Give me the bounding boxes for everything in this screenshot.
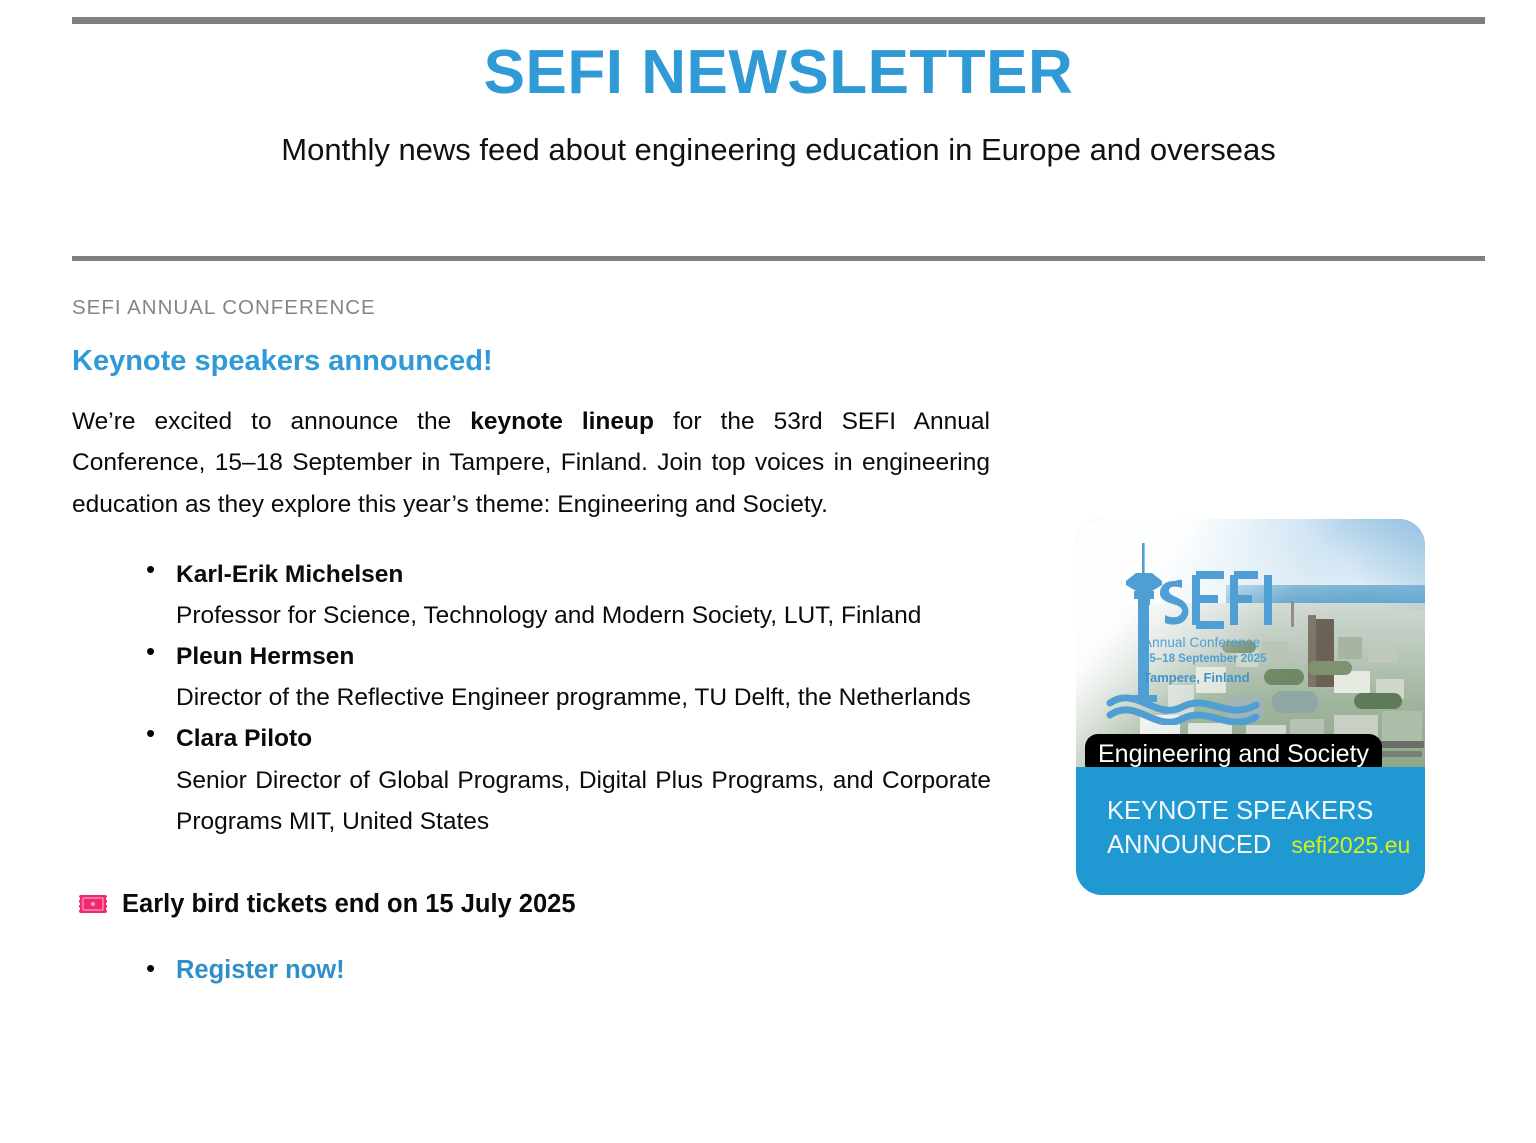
speaker-name: Pleun Hermsen xyxy=(176,636,990,677)
speaker-name: Clara Piloto xyxy=(176,718,990,759)
article-text-column: SEFI ANNUAL CONFERENCE Keynote speakers … xyxy=(72,296,992,989)
lede-text-before: We’re excited to announce the xyxy=(72,408,470,435)
list-item: Pleun Hermsen Director of the Reflective… xyxy=(140,636,990,718)
logo-line-dates: 15–18 September 2025 xyxy=(1143,653,1266,665)
lede-emphasis: keynote lineup xyxy=(470,408,654,435)
promo-url[interactable]: sefi2025.eu xyxy=(1291,830,1410,860)
speaker-role: Senior Director of Global Programs, Digi… xyxy=(176,760,991,842)
promo-footer: KEYNOTE SPEAKERS ANNOUNCED sefi2025.eu xyxy=(1076,767,1425,895)
masthead-bottom-rule xyxy=(72,256,1485,261)
nasinneula-tower-icon xyxy=(1096,525,1276,725)
register-now-link[interactable]: Register now! xyxy=(176,956,345,984)
article-headline: Keynote speakers announced! xyxy=(72,343,992,379)
early-bird-notice: Early bird tickets end on 15 July 2025 xyxy=(78,888,992,921)
sefi-conference-logo: Annual Conference 15–18 September 2025 T… xyxy=(1096,525,1276,725)
article-eyebrow: SEFI ANNUAL CONFERENCE xyxy=(72,296,992,321)
list-item: Register now! xyxy=(140,953,992,989)
list-item: Clara Piloto Senior Director of Global P… xyxy=(140,718,990,841)
cta-list: Register now! xyxy=(72,953,992,989)
logo-line-location: Tampere, Finland xyxy=(1143,670,1250,685)
promo-kicker-line1: KEYNOTE SPEAKERS xyxy=(1107,795,1373,829)
article-lede: We’re excited to announce the keynote li… xyxy=(72,401,990,526)
speaker-role: Professor for Science, Technology and Mo… xyxy=(176,595,991,636)
speaker-role: Director of the Reflective Engineer prog… xyxy=(176,677,991,718)
list-item: Karl-Erik Michelsen Professor for Scienc… xyxy=(140,554,990,636)
page-title: SEFI NEWSLETTER xyxy=(72,36,1485,109)
masthead: SEFI NEWSLETTER Monthly news feed about … xyxy=(72,36,1485,168)
early-bird-text: Early bird tickets end on 15 July 2025 xyxy=(122,888,576,921)
masthead-top-rule xyxy=(72,17,1485,24)
ticket-icon xyxy=(78,893,108,915)
masthead-subtitle: Monthly news feed about engineering educ… xyxy=(72,131,1485,168)
logo-line-annual-conference: Annual Conference xyxy=(1143,635,1260,650)
promo-kicker-line2: ANNOUNCED xyxy=(1107,829,1271,863)
newsletter-page: SEFI NEWSLETTER Monthly news feed about … xyxy=(0,0,1536,1143)
speaker-name: Karl-Erik Michelsen xyxy=(176,554,990,595)
speaker-list: Karl-Erik Michelsen Professor for Scienc… xyxy=(72,554,990,842)
promo-kicker-line2-row: ANNOUNCED sefi2025.eu xyxy=(1107,829,1410,863)
theme-badge: Engineering and Society xyxy=(1085,734,1382,767)
conference-promo-card[interactable]: Annual Conference 15–18 September 2025 T… xyxy=(1076,519,1425,895)
tampere-aerial-photo: Annual Conference 15–18 September 2025 T… xyxy=(1076,519,1425,767)
